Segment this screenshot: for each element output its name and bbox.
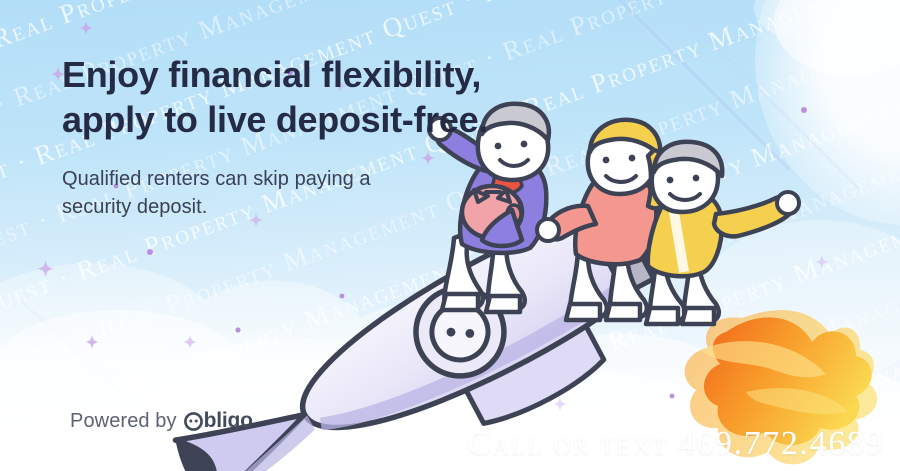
headline-line-2: apply to live deposit-free. xyxy=(62,97,488,142)
banner-subtitle: Qualified renters can skip paying a secu… xyxy=(62,165,488,222)
page-title: Enjoy financial flexibility, apply to li… xyxy=(62,52,488,143)
call-or-text-overlay[interactable]: Call or text 469.772.4689 xyxy=(468,425,884,463)
powered-by-label: Powered by xyxy=(70,410,177,433)
phone-overlay-text: Call or text 469.772.4689 xyxy=(468,425,884,462)
obligo-wordmark: bligo xyxy=(204,409,253,433)
subhead-line-2: security deposit. xyxy=(62,193,488,221)
obligo-smiley-icon xyxy=(184,412,203,431)
obligo-logo: bligo xyxy=(184,409,253,433)
subhead-line-1: Qualified renters can skip paying a xyxy=(62,168,371,190)
powered-by-obligo: Powered by bligo xyxy=(70,409,253,433)
banner-copy: Enjoy financial flexibility, apply to li… xyxy=(62,52,488,222)
promo-banner: Real Property Management Quest · Real Pr… xyxy=(0,0,900,471)
headline-line-1: Enjoy financial flexibility, xyxy=(62,54,481,95)
